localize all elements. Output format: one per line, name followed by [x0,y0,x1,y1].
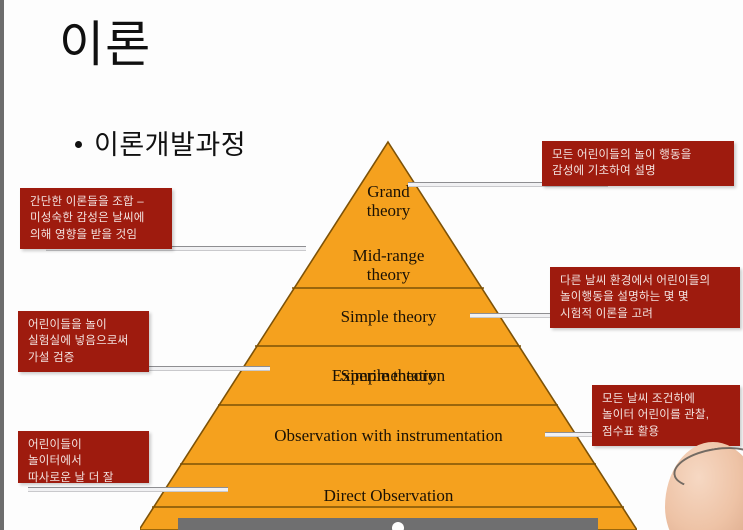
callout-line: 놀이행동을 설명하는 몇 몇 [560,289,731,305]
callout-line: 모든 어린이들의 놀이 행동을 [552,147,725,163]
callout-line: 다른 날씨 환경에서 어린이들의 [560,273,731,289]
callout-line: 시험적 이론을 고려 [560,306,731,322]
callout-line: 놀이터에서 [28,453,140,469]
callout-experimentation: 어린이들을 놀이 실험실에 넣음으로써 가설 검증 [18,311,149,372]
connector-line-direct-observation [28,487,228,492]
callout-grand-theory: 모든 어린이들의 놀이 행동을 감성에 기초하여 설명 [542,141,734,186]
callout-line: 실험실에 넣음으로써 [28,333,140,349]
pyramid-svg [140,138,637,530]
callout-line: 모든 날씨 조건하에 [602,391,731,407]
callout-mid-range: 간단한 이론들을 조합 – 미성숙한 감성은 날씨에 의해 영향을 받을 것임 [20,188,172,249]
callout-direct-observation: 어린이들이 놀이터에서 따사로운 날 더 잘 노는 것을 주목 [18,431,149,483]
callout-line: 점수표 활용 [602,424,731,440]
callout-line: 간단한 이론들을 조합 – [30,194,163,210]
bullet-dot-icon [75,141,82,148]
callout-line: 놀이터 어린이를 관찰, [602,407,731,423]
left-edge-strip [0,0,4,530]
page-title: 이론 [59,20,151,71]
callout-line: 감성에 기초하여 설명 [552,163,725,179]
theory-pyramid-diagram: Grand theory Mid-range theory Simple the… [140,138,637,530]
slide-canvas: 이론 이론개발과정 Grand theory [0,0,743,530]
callout-line: 따사로운 날 더 잘 [28,470,140,483]
pyramid-bottom-band [178,518,598,530]
presenter-webcam-overlay [665,442,743,530]
callout-line: 어린이들이 [28,437,140,453]
callout-observation: 모든 날씨 조건하에 놀이터 어린이를 관찰, 점수표 활용 [592,385,740,446]
callout-simple-theory: 다른 날씨 환경에서 어린이들의 놀이행동을 설명하는 몇 몇 시험적 이론을 … [550,267,740,328]
pyramid-body [140,142,637,530]
callout-line: 미성숙한 감성은 날씨에 [30,210,163,226]
callout-line: 가설 검증 [28,350,140,366]
callout-line: 어린이들을 놀이 [28,317,140,333]
callout-line: 의해 영향을 받을 것임 [30,227,163,243]
